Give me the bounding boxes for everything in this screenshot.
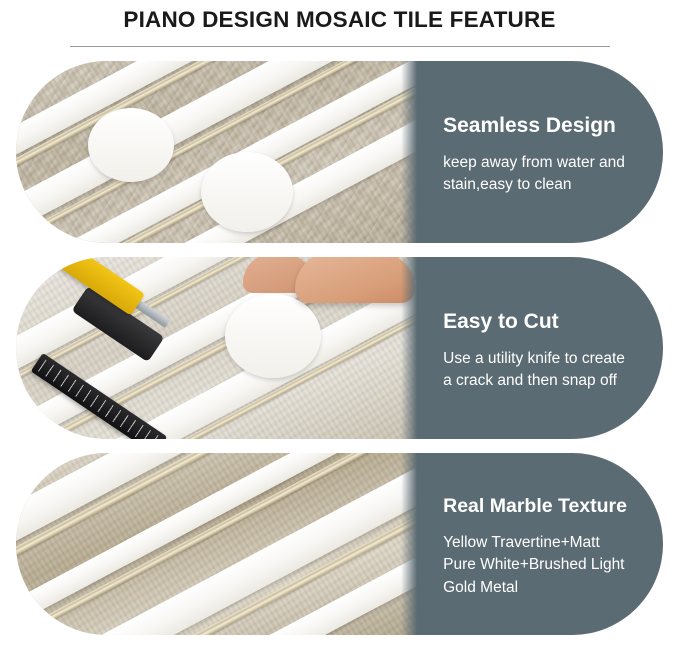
- infographic-page: PIANO DESIGN MOSAIC TILE FEATURE: [0, 0, 679, 657]
- feature-card: Easy to Cut Use a utility knife to creat…: [16, 257, 663, 439]
- header: PIANO DESIGN MOSAIC TILE FEATURE: [0, 0, 679, 47]
- feature-body: Use a utility knife to create a crack an…: [443, 348, 633, 393]
- image-edge-fade: [401, 453, 417, 635]
- tile-blob: [201, 152, 293, 232]
- feature-heading: Seamless Design: [443, 114, 633, 138]
- feature-body: keep away from water and stain,easy to c…: [443, 152, 633, 197]
- hand-right: [295, 257, 415, 303]
- page-title: PIANO DESIGN MOSAIC TILE FEATURE: [0, 6, 679, 34]
- feature-text-panel: Real Marble Texture Yellow Travertine+Ma…: [417, 453, 663, 635]
- feature-image-seamless-design: [16, 61, 417, 243]
- feature-text-panel: Seamless Design keep away from water and…: [417, 61, 663, 243]
- feature-image-real-marble-texture: [16, 453, 417, 635]
- feature-text-panel: Easy to Cut Use a utility knife to creat…: [417, 257, 663, 439]
- feature-heading: Easy to Cut: [443, 310, 633, 334]
- feature-card: Real Marble Texture Yellow Travertine+Ma…: [16, 453, 663, 635]
- feature-heading: Real Marble Texture: [443, 495, 633, 517]
- header-divider: [70, 46, 610, 47]
- feature-body: Yellow Travertine+Matt Pure White+Brushe…: [443, 532, 633, 599]
- tile-strip-group: [16, 453, 417, 635]
- feature-card: Seamless Design keep away from water and…: [16, 61, 663, 243]
- feature-card-list: Seamless Design keep away from water and…: [0, 61, 679, 635]
- tile-blob: [225, 294, 321, 378]
- image-edge-fade: [401, 257, 417, 439]
- image-edge-fade: [401, 61, 417, 243]
- feature-image-easy-to-cut: [16, 257, 417, 439]
